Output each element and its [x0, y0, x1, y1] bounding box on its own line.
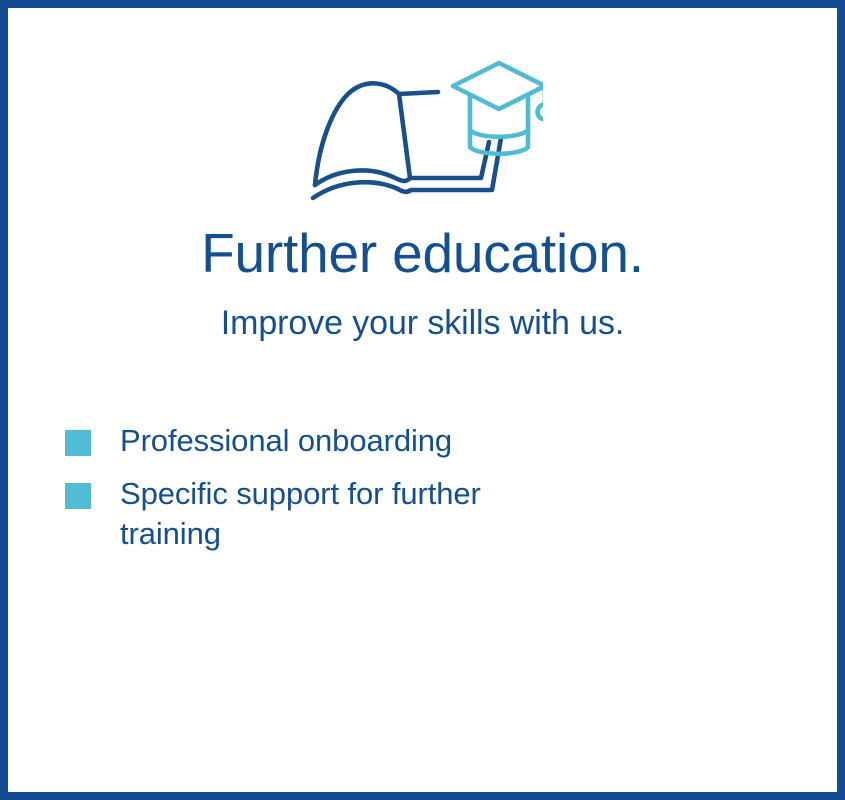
list-item: Specific support for further training	[65, 474, 837, 556]
feature-list: Professional onboarding Specific support…	[8, 421, 837, 568]
bullet-square-icon	[65, 430, 91, 456]
graduation-book-icon	[303, 46, 543, 201]
page-subtitle: Improve your skills with us.	[221, 304, 624, 343]
bullet-square-icon	[65, 483, 91, 509]
page-title: Further education.	[201, 223, 644, 284]
list-item-label: Specific support for further training	[120, 474, 590, 556]
list-item: Professional onboarding	[65, 421, 837, 462]
further-education-card: Further education. Improve your skills w…	[0, 0, 845, 800]
list-item-label: Professional onboarding	[120, 421, 452, 462]
